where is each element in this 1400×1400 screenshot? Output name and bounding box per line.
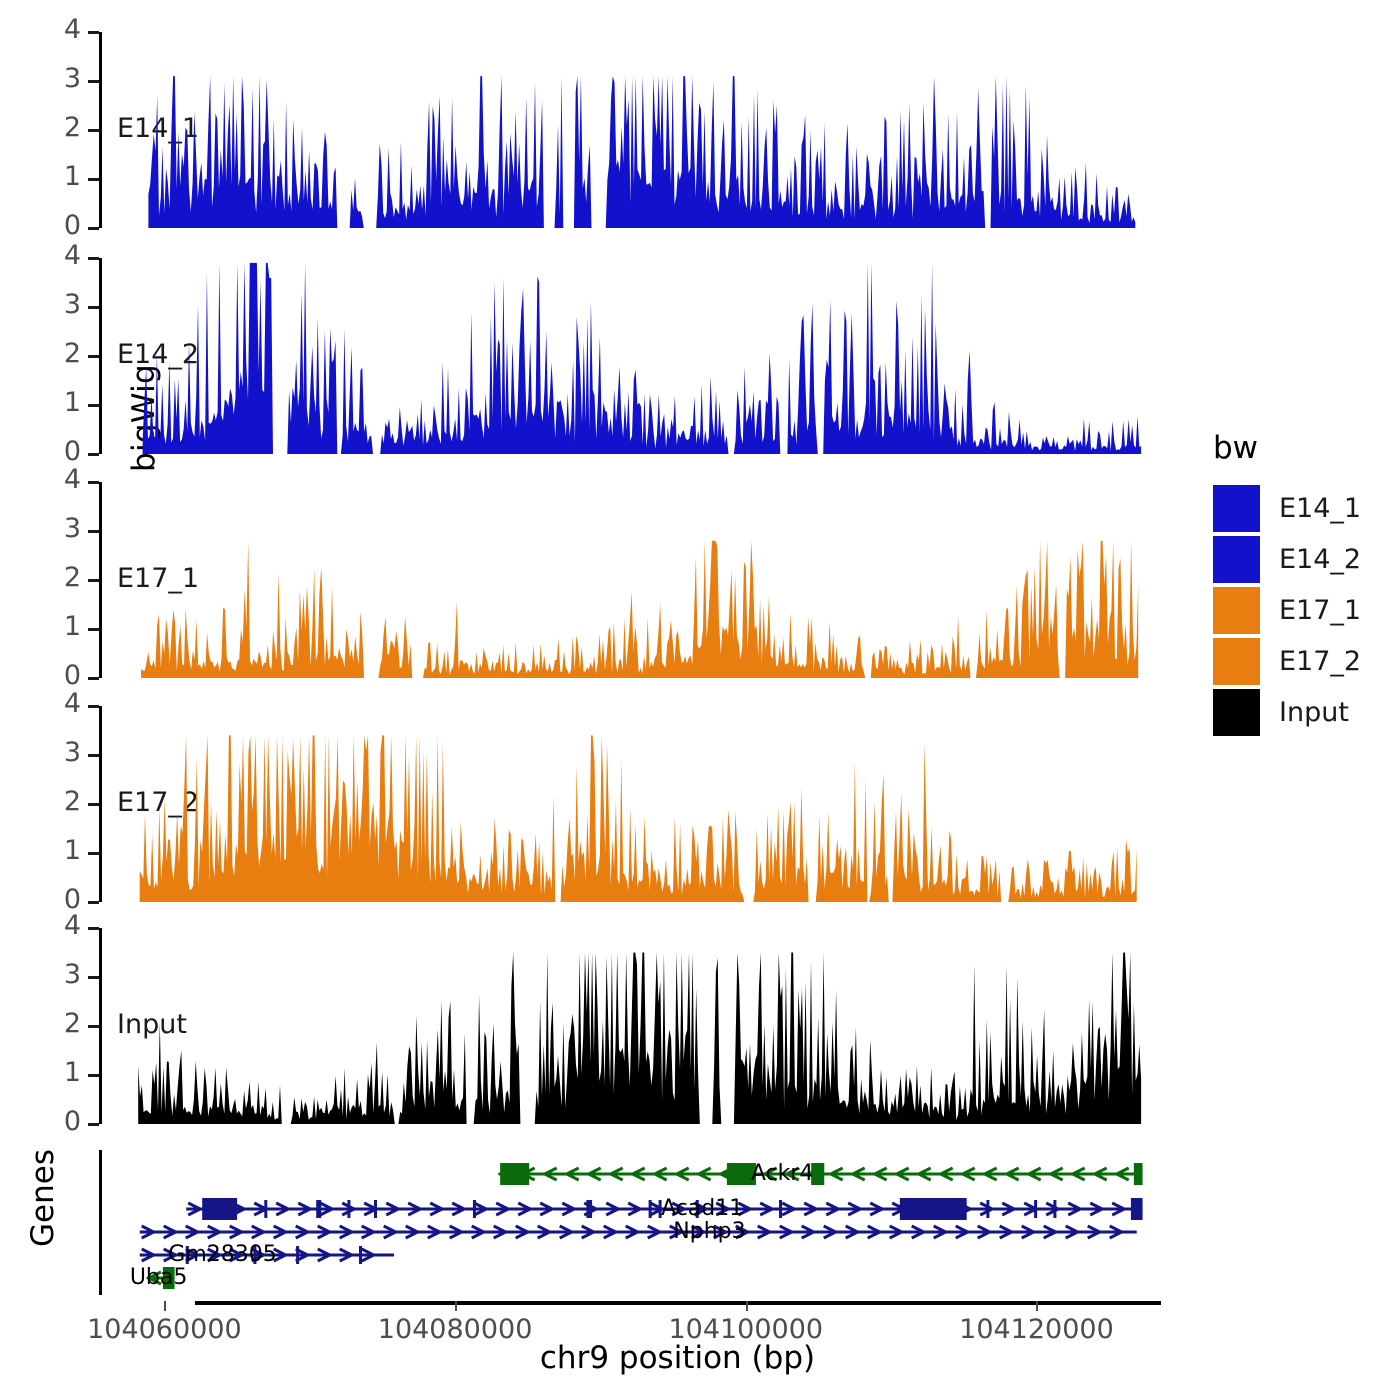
y-tick bbox=[88, 481, 99, 484]
signal-plot-area bbox=[99, 706, 1160, 902]
y-tick-label: 1 bbox=[64, 1057, 81, 1088]
y-tick-label: 2 bbox=[64, 1008, 81, 1039]
y-tick-label: 2 bbox=[64, 562, 81, 593]
exon-tick bbox=[473, 1200, 476, 1218]
y-tick-label: 0 bbox=[64, 1106, 81, 1137]
y-tick bbox=[88, 227, 99, 230]
y-tick-label: 3 bbox=[64, 513, 81, 544]
signal-area bbox=[138, 953, 1141, 1125]
y-tick-label: 1 bbox=[64, 387, 81, 418]
signal-area-chart bbox=[99, 482, 1160, 678]
y-tick bbox=[88, 677, 99, 680]
exon-tick bbox=[359, 1246, 362, 1264]
y-tick-label: 3 bbox=[64, 959, 81, 990]
bigwig-track-e17_1: 01234E17_1 bbox=[99, 482, 1160, 678]
x-tick bbox=[1036, 1301, 1038, 1311]
x-tick bbox=[455, 1301, 457, 1311]
legend-item-e17_1[interactable]: E17_1 bbox=[1213, 586, 1361, 635]
y-tick-label: 0 bbox=[64, 210, 81, 241]
y-tick-label: 3 bbox=[64, 289, 81, 320]
gene-label: Nphp3 bbox=[673, 1219, 745, 1244]
y-tick-label: 2 bbox=[64, 112, 81, 143]
y-tick-label: 2 bbox=[64, 786, 81, 817]
exon-block bbox=[1134, 1163, 1143, 1185]
legend-color-swatch bbox=[1213, 638, 1260, 685]
bigwig-track-e14_2: 01234E14_2 bbox=[99, 258, 1160, 454]
legend-item-label: Input bbox=[1279, 697, 1349, 728]
signal-area-chart bbox=[99, 258, 1160, 454]
y-tick bbox=[88, 579, 99, 582]
exon-block bbox=[900, 1198, 967, 1220]
exon-block bbox=[1131, 1198, 1143, 1220]
exon-tick bbox=[1053, 1200, 1056, 1218]
exon-tick bbox=[1034, 1200, 1037, 1218]
exon-tick bbox=[374, 1200, 377, 1218]
y-tick-label: 4 bbox=[64, 464, 81, 495]
legend-title: bw bbox=[1213, 430, 1361, 466]
y-tick bbox=[88, 852, 99, 855]
legend-color-swatch bbox=[1213, 536, 1260, 583]
gene-model-chart: Ackr4Acad11Nphp3Gm28305Uba5 bbox=[99, 1150, 1160, 1295]
exon-tick bbox=[264, 1200, 267, 1218]
gene-uba5[interactable]: Uba5 bbox=[130, 1265, 188, 1290]
signal-area bbox=[140, 735, 1137, 902]
exon-tick bbox=[347, 1200, 350, 1218]
legend-items: E14_1E14_2E17_1E17_2Input bbox=[1213, 484, 1361, 737]
legend-item-e14_2[interactable]: E14_2 bbox=[1213, 535, 1361, 584]
y-tick bbox=[88, 453, 99, 456]
gene-gm28305[interactable]: Gm28305 bbox=[140, 1242, 394, 1267]
signal-area bbox=[143, 263, 1142, 454]
y-tick bbox=[88, 628, 99, 631]
signal-plot-area bbox=[99, 928, 1160, 1124]
legend-item-e17_2[interactable]: E17_2 bbox=[1213, 637, 1361, 686]
x-tick bbox=[746, 1301, 748, 1311]
genes-panel: Ackr4Acad11Nphp3Gm28305Uba5 bbox=[99, 1150, 1160, 1295]
signal-plot-area bbox=[99, 482, 1160, 678]
x-tick bbox=[164, 1301, 166, 1311]
legend-item-label: E17_2 bbox=[1279, 646, 1361, 677]
legend-color-swatch bbox=[1213, 485, 1260, 532]
gene-nphp3[interactable]: Nphp3 bbox=[140, 1219, 1137, 1244]
x-axis-line bbox=[195, 1301, 1161, 1305]
y-tick-label: 1 bbox=[64, 161, 81, 192]
y-tick bbox=[88, 927, 99, 930]
y-tick-label: 2 bbox=[64, 338, 81, 369]
exon-tick bbox=[986, 1200, 989, 1218]
x-tick-label: 104100000 bbox=[668, 1314, 823, 1345]
exon-block bbox=[202, 1198, 237, 1220]
legend-color-swatch bbox=[1213, 587, 1260, 634]
bigwig-track-input: 01234Input bbox=[99, 928, 1160, 1124]
signal-plot-area bbox=[99, 32, 1160, 228]
y-tick bbox=[88, 80, 99, 83]
signal-area bbox=[148, 76, 1135, 228]
y-tick bbox=[88, 803, 99, 806]
y-tick-label: 0 bbox=[64, 660, 81, 691]
y-tick-label: 4 bbox=[64, 240, 81, 271]
y-tick bbox=[88, 1074, 99, 1077]
signal-plot-area bbox=[99, 258, 1160, 454]
exon-tick bbox=[779, 1200, 782, 1218]
y-tick bbox=[88, 257, 99, 260]
y-tick-label: 4 bbox=[64, 688, 81, 719]
x-tick-label: 104080000 bbox=[378, 1314, 533, 1345]
exon-block bbox=[500, 1163, 529, 1185]
y-tick bbox=[88, 129, 99, 132]
x-axis-label: chr9 position (bp) bbox=[195, 1340, 1160, 1376]
y-tick bbox=[88, 530, 99, 533]
y-axis-label-genes: Genes bbox=[25, 1103, 61, 1293]
y-tick bbox=[88, 1025, 99, 1028]
gene-label: Ackr4 bbox=[751, 1161, 814, 1186]
y-tick bbox=[88, 404, 99, 407]
y-tick bbox=[88, 901, 99, 904]
y-tick bbox=[88, 754, 99, 757]
exon-tick bbox=[316, 1200, 319, 1218]
y-tick-label: 0 bbox=[64, 436, 81, 467]
genes-plot-area: Ackr4Acad11Nphp3Gm28305Uba5 bbox=[99, 1150, 1160, 1295]
gene-ackr4[interactable]: Ackr4 bbox=[499, 1161, 1143, 1186]
y-tick-label: 1 bbox=[64, 835, 81, 866]
y-tick bbox=[88, 976, 99, 979]
y-tick-label: 3 bbox=[64, 737, 81, 768]
y-tick-label: 4 bbox=[64, 14, 81, 45]
bigwig-track-e17_2: 01234E17_2 bbox=[99, 706, 1160, 902]
legend: bw E14_1E14_2E17_1E17_2Input bbox=[1213, 430, 1361, 739]
y-tick-label: 4 bbox=[64, 910, 81, 941]
legend-item-e14_1[interactable]: E14_1 bbox=[1213, 484, 1361, 533]
gene-acad11[interactable]: Acad11 bbox=[186, 1196, 1142, 1221]
legend-item-label: E14_1 bbox=[1279, 493, 1361, 524]
x-tick-label: 104120000 bbox=[959, 1314, 1114, 1345]
legend-item-label: E17_1 bbox=[1279, 595, 1361, 626]
y-tick bbox=[88, 306, 99, 309]
y-tick-label: 1 bbox=[64, 611, 81, 642]
y-tick bbox=[88, 355, 99, 358]
gene-label: Acad11 bbox=[661, 1196, 743, 1221]
exon-tick bbox=[586, 1200, 589, 1218]
gene-label: Gm28305 bbox=[168, 1242, 276, 1267]
bigwig-track-e14_1: 01234E14_1 bbox=[99, 32, 1160, 228]
y-tick bbox=[88, 31, 99, 34]
signal-area-chart bbox=[99, 32, 1160, 228]
x-tick-label: 104060000 bbox=[87, 1314, 242, 1345]
signal-area-chart bbox=[99, 928, 1160, 1124]
exon-tick bbox=[589, 1200, 592, 1218]
y-tick bbox=[88, 1123, 99, 1126]
exon-tick bbox=[296, 1246, 299, 1264]
y-tick bbox=[88, 178, 99, 181]
exon-tick bbox=[649, 1200, 652, 1218]
legend-item-input[interactable]: Input bbox=[1213, 688, 1361, 737]
gene-label: Uba5 bbox=[130, 1265, 188, 1290]
legend-item-label: E14_2 bbox=[1279, 544, 1361, 575]
signal-area-chart bbox=[99, 706, 1160, 902]
signal-area bbox=[141, 541, 1138, 678]
y-tick-label: 3 bbox=[64, 63, 81, 94]
legend-color-swatch bbox=[1213, 689, 1260, 736]
y-tick bbox=[88, 705, 99, 708]
